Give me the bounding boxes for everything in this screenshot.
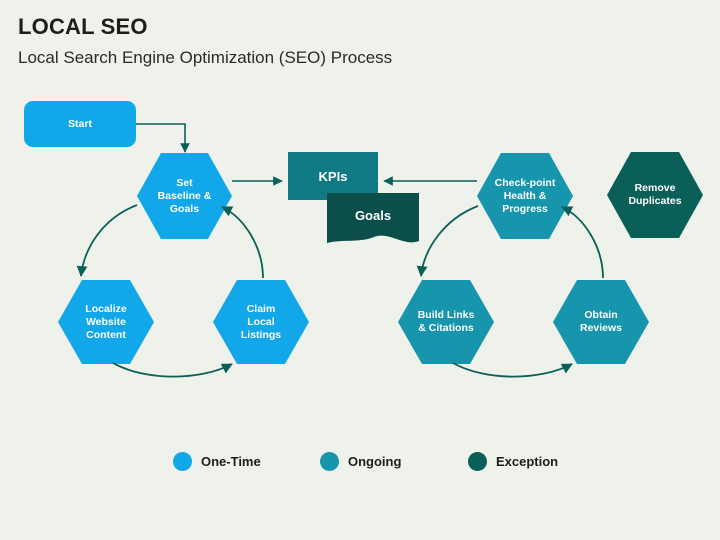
node-start-shape[interactable] [24, 101, 136, 147]
arc-baseline-to-localize [81, 205, 137, 276]
node-buildlinks-shape[interactable] [398, 280, 494, 364]
arc-localize-to-claim [113, 363, 232, 377]
legend-item-exception[interactable]: Exception [468, 452, 558, 471]
arc-obtain-to-checkpoint [562, 207, 603, 278]
box-kpis-shape[interactable] [288, 152, 378, 200]
node-claim-shape[interactable] [213, 280, 309, 364]
node-baseline-shape[interactable] [137, 153, 232, 239]
arc-checkpoint-to-buildlinks [421, 206, 478, 276]
legend-dot-ongoing [320, 452, 339, 471]
node-obtain-shape[interactable] [553, 280, 649, 364]
connector-start-to-baseline [136, 124, 185, 152]
node-remove-shape[interactable] [607, 152, 703, 238]
legend-dot-one-time [173, 452, 192, 471]
legend-dot-exception [468, 452, 487, 471]
node-localize-shape[interactable] [58, 280, 154, 364]
node-checkpoint-shape[interactable] [477, 153, 573, 239]
arc-buildlinks-to-obtain [453, 363, 572, 377]
box-goals-shape[interactable] [327, 193, 419, 243]
arc-claim-to-baseline [222, 207, 263, 278]
legend-item-ongoing[interactable]: Ongoing [320, 452, 401, 471]
legend-label-one-time: One-Time [201, 454, 261, 469]
legend-item-one-time[interactable]: One-Time [173, 452, 261, 471]
legend-label-ongoing: Ongoing [348, 454, 401, 469]
legend: One-Time Ongoing Exception [0, 452, 720, 492]
legend-label-exception: Exception [496, 454, 558, 469]
